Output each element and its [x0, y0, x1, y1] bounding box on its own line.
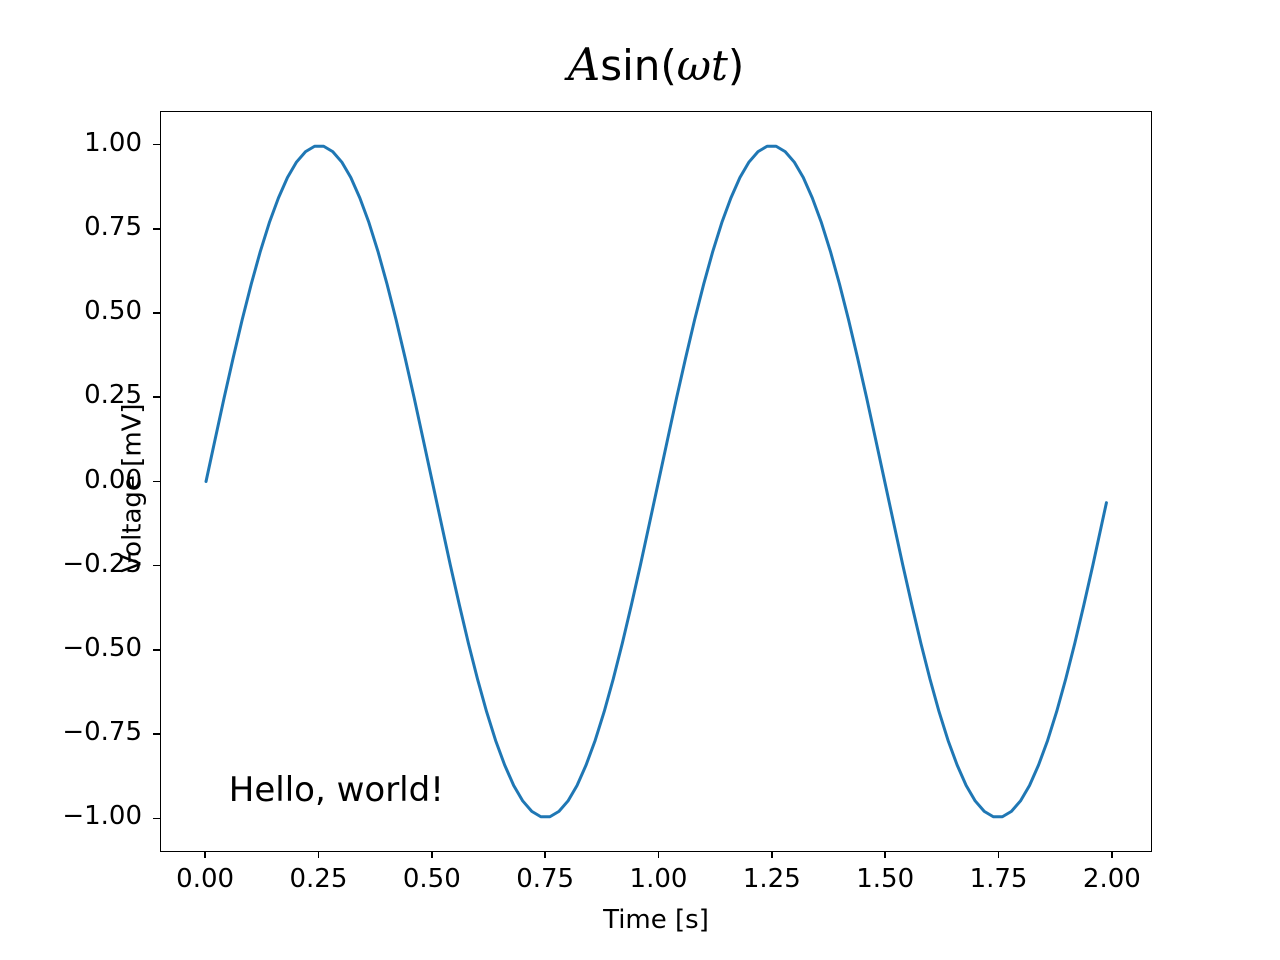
plot-axes: Hello, world!: [160, 111, 1152, 852]
x-tick-label: 0.25: [258, 864, 378, 894]
x-tick-mark: [204, 851, 206, 858]
x-tick-mark: [658, 851, 660, 858]
x-tick-label: 0.00: [145, 864, 265, 894]
x-tick-mark: [998, 851, 1000, 858]
y-tick-mark: [153, 144, 160, 146]
chart-title: Asin(ωt): [160, 42, 1152, 87]
x-tick-mark: [1111, 851, 1113, 858]
title-open-paren: (: [660, 41, 676, 90]
y-tick-mark: [153, 818, 160, 820]
y-tick-mark: [153, 396, 160, 398]
x-tick-label: 1.25: [712, 864, 832, 894]
title-close-paren: ): [728, 41, 744, 90]
title-sin: sin: [600, 41, 660, 90]
y-tick-mark: [153, 228, 160, 230]
x-tick-label: 1.75: [939, 864, 1059, 894]
y-tick-mark: [153, 312, 160, 314]
title-omega: ω: [677, 41, 711, 90]
x-tick-label: 0.75: [485, 864, 605, 894]
x-axis-label: Time [s]: [160, 905, 1152, 935]
matplotlib-figure: Asin(ωt) Hello, world! 0.000.250.500.751…: [0, 0, 1280, 960]
y-axis-label: Voltage [mV]: [118, 118, 148, 859]
y-tick-mark: [153, 481, 160, 483]
sine-curve: [206, 146, 1106, 816]
plot-annotation-text: Hello, world!: [229, 770, 444, 810]
x-tick-mark: [318, 851, 320, 858]
plot-canvas: [161, 112, 1151, 851]
x-tick-label: 1.00: [598, 864, 718, 894]
x-tick-mark: [544, 851, 546, 858]
x-tick-label: 0.50: [372, 864, 492, 894]
y-tick-mark: [153, 565, 160, 567]
title-script-a: A: [568, 38, 601, 91]
x-tick-mark: [431, 851, 433, 858]
x-tick-mark: [884, 851, 886, 858]
x-tick-mark: [771, 851, 773, 858]
y-tick-mark: [153, 649, 160, 651]
y-tick-mark: [153, 733, 160, 735]
x-tick-label: 1.50: [825, 864, 945, 894]
title-t: t: [711, 41, 728, 90]
x-tick-label: 2.00: [1052, 864, 1172, 894]
